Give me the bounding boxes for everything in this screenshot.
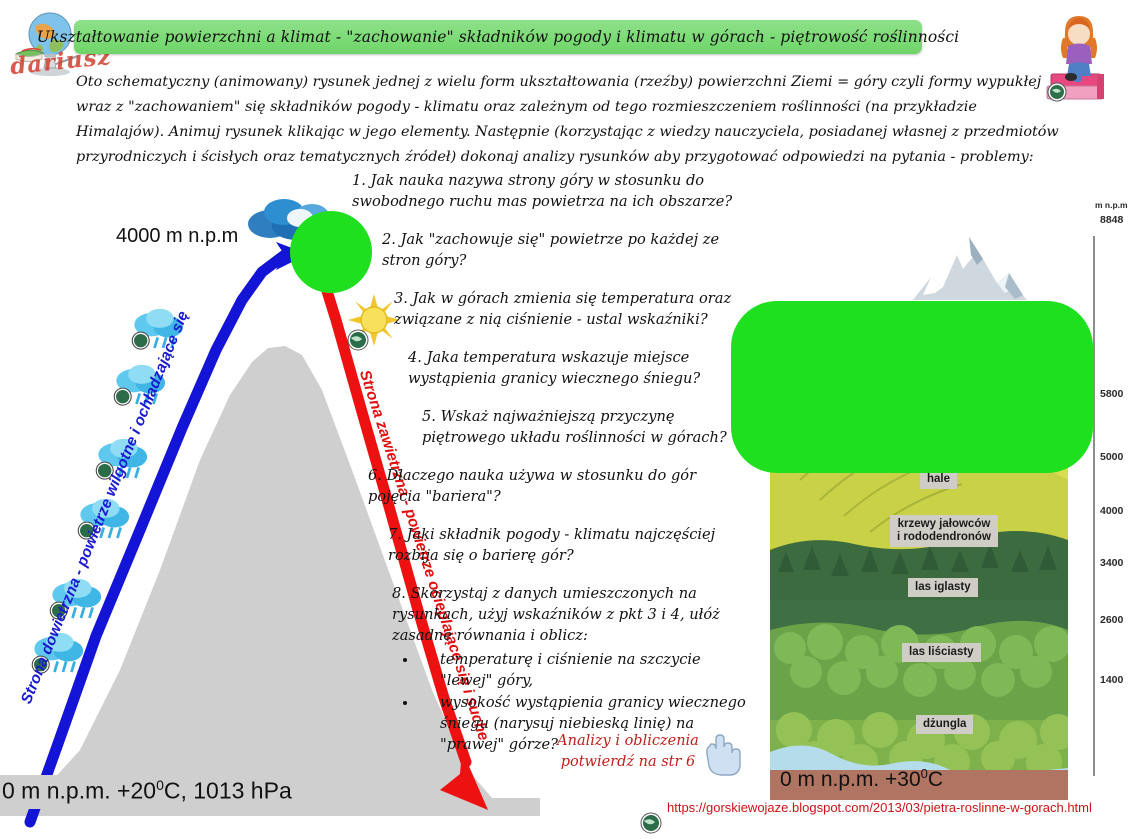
sea-level-label: 0 m n.p.m. +300C [780,766,943,792]
altitude-label-4000: 4000 m n.p.m [116,225,238,248]
zone-label: las liściasty [902,643,981,662]
source-url[interactable]: https://gorskiewojaze.blogspot.com/2013/… [667,800,1092,815]
question-8-bullet: temperaturę i ciśnienie na szczycie "lew… [418,649,752,691]
question-item: 5. Wskaż najważniejszą przyczynę piętrow… [422,406,752,448]
confirm-note-line2: potwierdź na str 6 [548,752,708,773]
ruler-tick: 5800 [1100,388,1123,400]
question-item: 3. Jak w górach zmienia się temperatura … [394,288,752,330]
snow-peak-image [905,225,1035,310]
peak-hotspot[interactable] [290,211,372,293]
ruler-tick: 4000 [1100,505,1123,517]
question-item-8: 8. Skorzystaj z danych umieszczonych na … [392,583,752,755]
confirm-note-line1: Analizy i obliczenia [548,731,708,752]
slide-canvas: dariusz Ukształtowanie powierzchni a kli… [0,0,1129,839]
globe-icon [640,812,662,834]
zone-label: krzewy jałowców i rododendronów [890,515,998,547]
ruler-tick: 2600 [1100,614,1123,626]
photo-hotspot[interactable] [731,301,1093,473]
question-item: 7. Jaki składnik pogody - klimatu najczę… [388,524,752,566]
ruler-tick: 5000 [1100,451,1123,463]
ruler-tick: 1400 [1100,674,1123,686]
questions-list: 1. Jak nauka nazywa strony góry w stosun… [352,170,752,772]
altitude-ruler [1093,236,1095,776]
pointing-hand-icon [700,728,748,780]
ruler-header: m n.p.m [1095,200,1128,211]
zone-label: las iglasty [908,578,978,597]
page-title: Ukształtowanie powierzchni a klimat - "z… [37,28,959,46]
slide-title-banner: Ukształtowanie powierzchni a klimat - "z… [74,20,922,54]
confirm-note: Analizy i obliczenia potwierdź na str 6 [548,731,708,773]
ruler-tick: 3400 [1100,557,1123,569]
question-8-lead: 8. Skorzystaj z danych umieszczonych na … [392,585,720,644]
ruler-tick: 8848 [1100,214,1123,226]
question-item: 6. Dlaczego nauka używa w stosunku do gó… [368,465,752,507]
question-item: 4. Jaka temperatura wskazuje miejsce wys… [408,347,752,389]
question-item: 2. Jak "zachowuje się" powietrze po każd… [382,229,752,271]
base-altitude-label: 0 m n.p.m. +200C, 1013 hPa [0,775,300,809]
zone-label: dżungla [916,715,973,734]
question-item: 1. Jak nauka nazywa strony góry w stosun… [352,170,752,212]
